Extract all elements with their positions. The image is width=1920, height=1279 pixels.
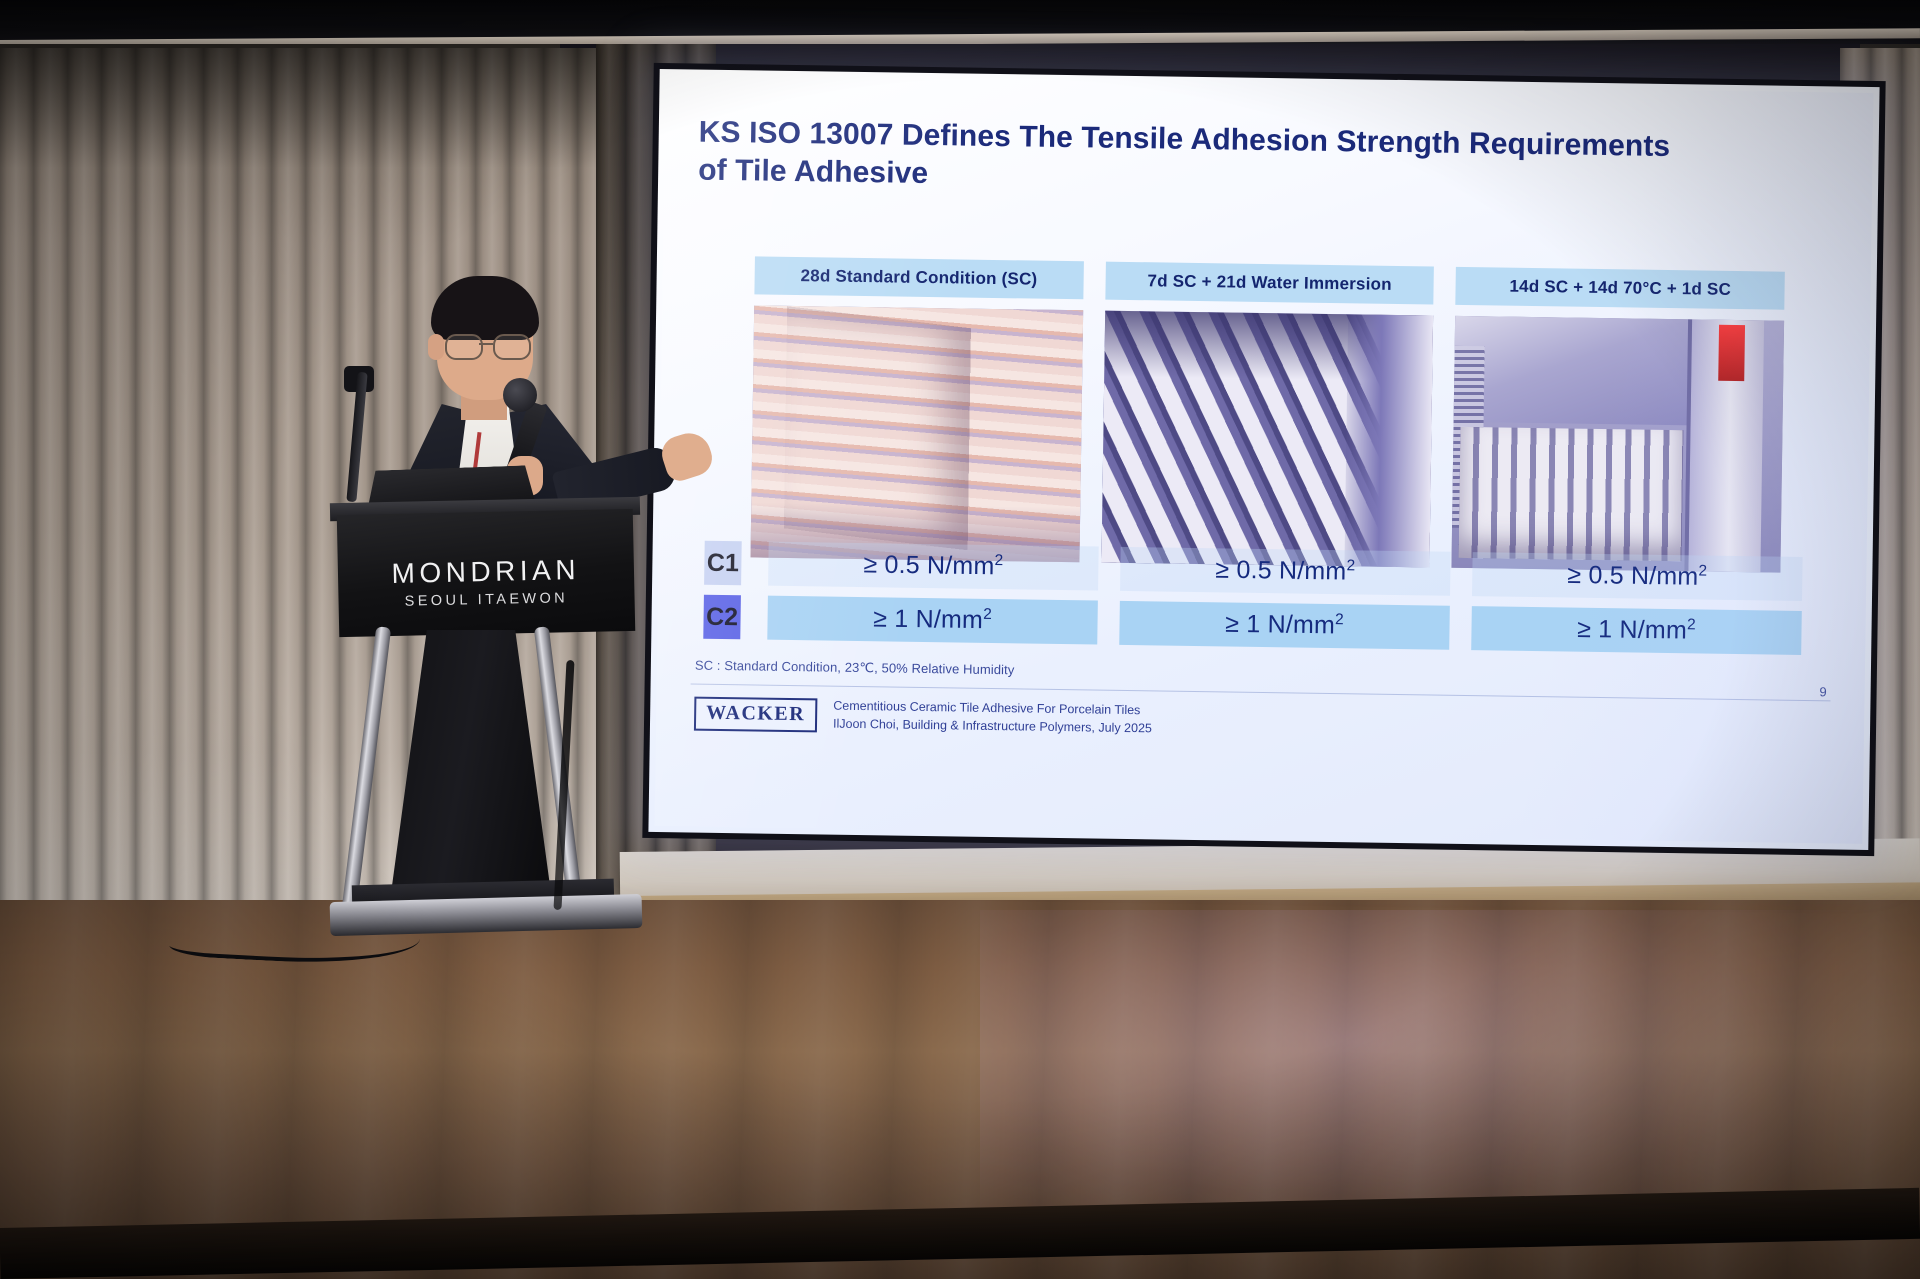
slide-footnote: SC : Standard Condition, 23℃, 50% Relati… — [695, 658, 1015, 679]
slide-footer: WACKER Cementitious Ceramic Tile Adhesiv… — [694, 696, 1152, 738]
heat-chamber-specimens-photo — [1452, 316, 1784, 573]
value-exponent: 2 — [1687, 617, 1696, 634]
value-text: ≥ 0.5 N/mm — [1567, 561, 1698, 591]
conference-presentation-scene: KS ISO 13007 Defines The Tensile Adhesio… — [0, 0, 1920, 1279]
value-cell: ≥ 0.5 N/mm2 — [1120, 547, 1451, 595]
condition-column: 28d Standard Condition (SC) — [750, 256, 1083, 562]
lectern: MONDRIAN SEOUL ITAEWON — [330, 500, 640, 930]
class-badge-c2: C2 — [703, 595, 741, 640]
microphone-head — [503, 378, 537, 412]
presentation-slide: KS ISO 13007 Defines The Tensile Adhesio… — [648, 69, 1879, 850]
value-text: ≥ 1 N/mm — [873, 605, 983, 635]
value-exponent: 2 — [1335, 611, 1344, 628]
hair — [431, 276, 539, 340]
class-badge-c1: C1 — [704, 541, 742, 586]
value-cell: ≥ 0.5 N/mm2 — [1472, 552, 1803, 600]
value-cell: ≥ 1 N/mm2 — [767, 596, 1098, 644]
column-header-standard-condition: 28d Standard Condition (SC) — [754, 256, 1083, 299]
stacked-tile-specimens-photo — [750, 305, 1082, 562]
value-cell: ≥ 1 N/mm2 — [1119, 601, 1450, 649]
value-exponent: 2 — [1346, 558, 1355, 575]
condition-column: 14d SC + 14d 70°C + 1d SC — [1452, 267, 1785, 573]
value-exponent: 2 — [994, 552, 1003, 569]
projection-screen: KS ISO 13007 Defines The Tensile Adhesio… — [642, 63, 1885, 856]
value-text: ≥ 1 N/mm — [1225, 610, 1335, 640]
glasses-icon — [443, 334, 535, 356]
ear — [428, 334, 444, 360]
column-header-water-immersion: 7d SC + 21d Water Immersion — [1105, 262, 1434, 305]
chamber-handle — [1718, 325, 1745, 381]
value-text: ≥ 1 N/mm — [1577, 615, 1687, 645]
venue-branding: MONDRIAN SEOUL ITAEWON — [337, 553, 634, 611]
condition-columns: 28d Standard Condition (SC) 7d SC + 21d … — [750, 256, 1784, 572]
venue-brand-name: MONDRIAN — [337, 553, 634, 591]
requirement-rows: C1 ≥ 0.5 N/mm2 ≥ 0.5 N/mm2 ≥ 0.5 N/mm2 C… — [691, 536, 1802, 660]
value-text: ≥ 0.5 N/mm — [1215, 556, 1346, 586]
value-text: ≥ 0.5 N/mm — [863, 551, 994, 581]
slide-title: KS ISO 13007 Defines The Tensile Adhesio… — [698, 114, 1699, 206]
wacker-logo: WACKER — [694, 696, 818, 732]
lectern-rail-left — [340, 626, 391, 926]
water-immersion-rack-photo — [1101, 311, 1433, 568]
value-exponent: 2 — [983, 606, 992, 623]
value-cell: ≥ 1 N/mm2 — [1471, 606, 1802, 654]
column-header-heat-ageing: 14d SC + 14d 70°C + 1d SC — [1456, 267, 1785, 310]
slide-page-number: 9 — [1819, 684, 1826, 699]
value-cell: ≥ 0.5 N/mm2 — [768, 542, 1099, 590]
value-exponent: 2 — [1698, 563, 1707, 580]
condition-column: 7d SC + 21d Water Immersion — [1101, 262, 1434, 568]
footer-line-author: IlJoon Choi, Building & Infrastructure P… — [833, 715, 1152, 737]
